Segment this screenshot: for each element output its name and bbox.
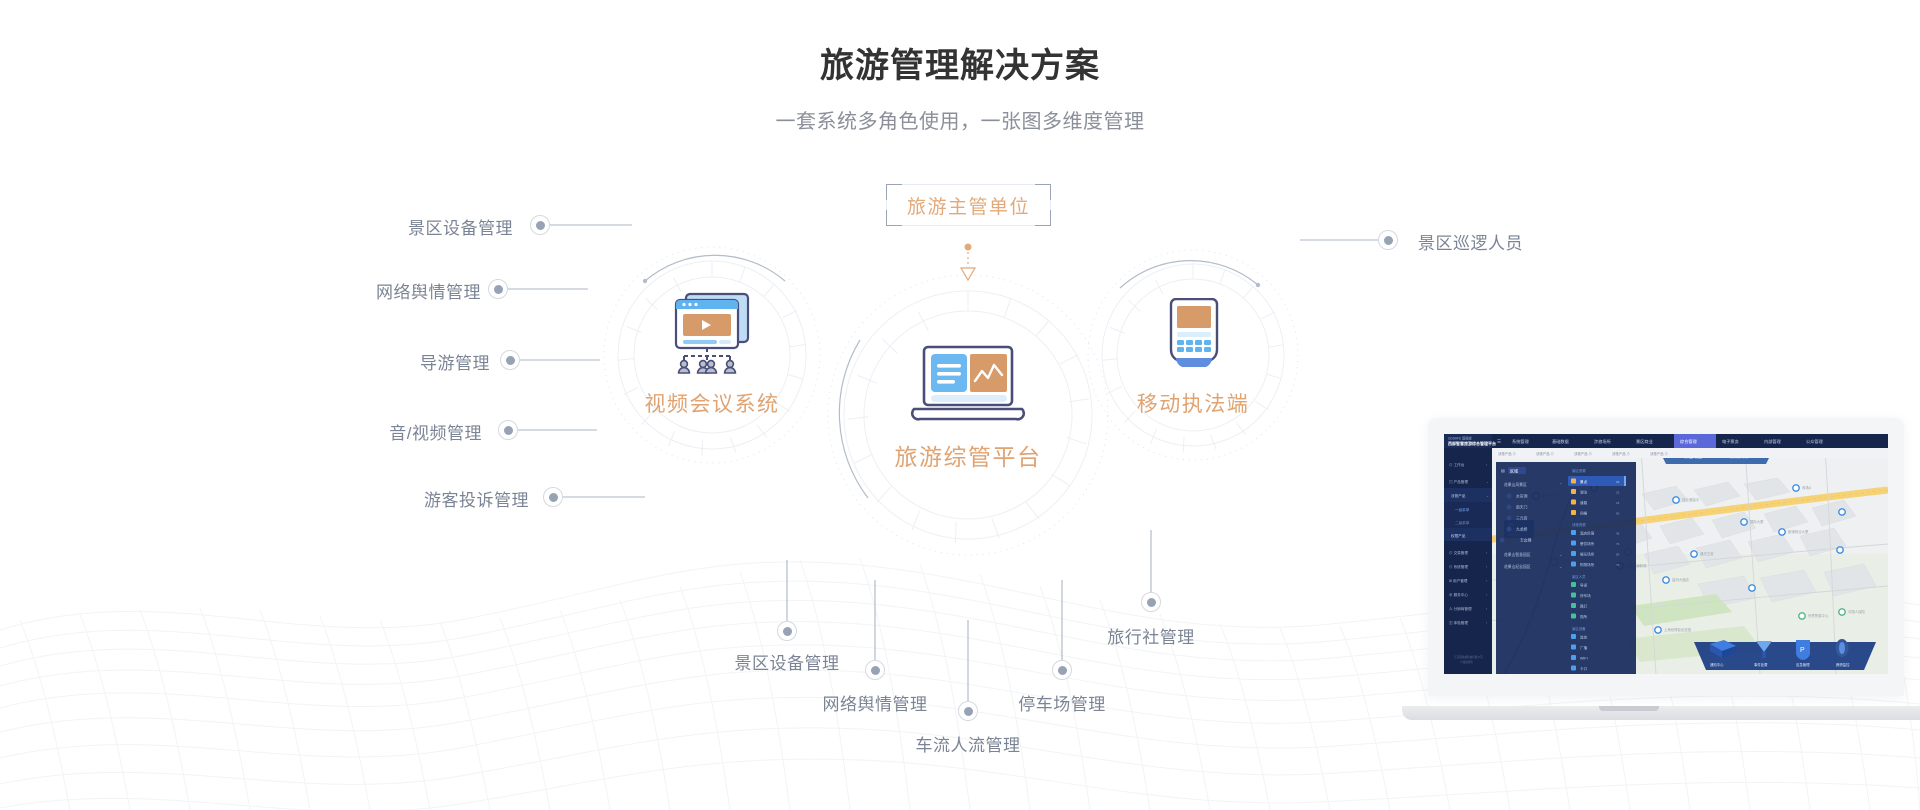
svg-text:卡口: 卡口 [1580,666,1588,671]
svg-text:上海世博会纪念馆: 上海世博会纪念馆 [1664,627,1692,632]
svg-text:涉旅产品 ⊙: 涉旅产品 ⊙ [1536,451,1554,456]
svg-text:区域: 区域 [1510,468,1518,474]
svg-text:综合管理: 综合管理 [1680,438,1698,445]
svg-text:45: 45 [1616,532,1620,536]
node-label-bottom-3: 停车场管理 [1018,690,1106,715]
svg-text:⊞ 用户管理: ⊞ 用户管理 [1449,578,1468,583]
svg-text:景区资源: 景区资源 [1572,468,1586,473]
svg-text:景区人员: 景区人员 [1572,574,1586,579]
node-label-left-2: 导游管理 [420,349,490,374]
svg-text:商场A: 商场A [1802,485,1812,490]
svg-text:涉旅产品 ⊙: 涉旅产品 ⊙ [1498,451,1516,456]
svg-text:监控: 监控 [1580,635,1588,640]
node-dot-bottom-2[interactable] [958,701,978,721]
ring-title-mobile-enforcement: 移动执法端 [1137,388,1250,418]
authority-label: 旅游主管单位 [907,192,1030,219]
leader-lines-bottom [787,530,1151,702]
dot-core [549,493,558,502]
node-dot-left-3[interactable] [498,420,518,440]
dot-core [506,356,515,365]
svg-text:⊙ 系统管理: ⊙ 系统管理 [1449,564,1468,569]
node-dot-left-1[interactable] [488,279,508,299]
dashboard-screenshot: 新浦汽车公园连云港高中 商场A国际大厦 新浦商业大厦通灵王宫 花果山海鲜城盐河大… [1444,434,1888,674]
node-dot-bottom-1[interactable] [865,660,885,680]
svg-text:⊕ 服务中心: ⊕ 服务中心 [1449,592,1468,597]
svg-text:花果山智慧园区: 花果山智慧园区 [1504,552,1531,557]
svg-text:事件处置: 事件处置 [1754,662,1768,667]
authority-box: 旅游主管单位 [886,184,1051,226]
ring-title-video-conference: 视频会议系统 [645,388,780,418]
svg-text:公众管理: 公众管理 [1806,438,1824,445]
svg-text:76: 76 [1616,563,1620,567]
node-dot-left-4[interactable] [543,487,563,507]
svg-text:⌄: ⌄ [1559,565,1562,569]
svg-text:连云港高中: 连云港高中 [1682,497,1700,502]
node-label-bottom-4: 旅行社管理 [1107,623,1195,648]
svg-text:⊙ 工作台: ⊙ 工作台 [1449,462,1465,467]
svg-text:道路: 道路 [1580,500,1588,505]
svg-text:一级菜单: 一级菜单 [1455,507,1470,512]
svg-text:© 版权所有: © 版权所有 [1460,660,1473,664]
node-label-right-0: 景区巡逻人员 [1418,229,1523,254]
svg-text:花果山纪念园区: 花果山纪念园区 [1504,564,1531,569]
laptop-notch [1599,706,1659,711]
svg-text:湖泊: 湖泊 [1580,490,1588,495]
svg-text:▤: ▤ [1501,468,1505,473]
dot-core [1384,236,1393,245]
node-label-left-4: 游客投诉管理 [424,486,529,511]
laptop-base [1402,706,1920,720]
svg-text:路灯: 路灯 [1580,604,1588,609]
svg-text:南天门: 南天门 [1516,504,1528,509]
svg-text:系统管理: 系统管理 [1512,438,1530,445]
leader-lines-left [508,225,645,497]
svg-text:内部管理: 内部管理 [1764,438,1782,445]
node-label-left-1: 网络舆情管理 [376,278,481,303]
laptop-dashboard-icon [908,345,1028,425]
svg-text:基础数据: 基础数据 [1552,438,1569,445]
box-edge-right [1050,200,1051,210]
dot-core [504,426,513,435]
laptop-screen-bezel: 新浦汽车公园连云港高中 商场A国际大厦 新浦商业大厦通灵王宫 花果山海鲜城盐河大… [1428,418,1904,696]
node-dot-left-2[interactable] [500,350,520,370]
svg-text:23: 23 [1616,480,1620,484]
svg-text:舆情监控: 舆情监控 [1836,662,1850,667]
video-window-icon [662,290,762,375]
svg-text:⊙ 交易管理: ⊙ 交易管理 [1449,550,1468,555]
svg-text:酒店民宿: 酒店民宿 [1580,531,1595,536]
node-label-bottom-2: 车流人流管理 [916,731,1021,756]
svg-text:购物场所: 购物场所 [1580,562,1595,567]
svg-text:23: 23 [1616,501,1620,505]
svg-text:▥ 体验管理: ▥ 体验管理 [1449,620,1468,625]
svg-text:世界贸易中心: 世界贸易中心 [1808,613,1829,618]
node-dot-right-0[interactable] [1378,230,1398,250]
svg-text:广播: 广播 [1580,645,1588,650]
dot-core [783,627,792,636]
svg-text:涉旅资源: 涉旅资源 [1572,522,1586,527]
svg-text:景区设备: 景区设备 [1572,626,1586,631]
svg-text:新浦商业大厦: 新浦商业大厦 [1788,529,1809,534]
svg-text:景点: 景点 [1580,479,1588,484]
handheld-device-icon [1163,298,1225,376]
node-dot-bottom-3[interactable] [1052,660,1072,680]
node-label-left-3: 音/视频管理 [389,419,482,444]
solution-poster: 旅游管理解决方案 一套系统多角色使用，一张图多维度管理 [0,0,1920,810]
svg-text:导游: 导游 [1580,583,1588,588]
svg-text:79: 79 [1616,542,1620,546]
node-label-left-0: 景区设备管理 [408,214,513,239]
node-label-bottom-1: 网络舆情管理 [823,690,928,715]
svg-text:餐饮场所: 餐饮场所 [1580,541,1595,546]
svg-text:停车场: 停车场 [1580,593,1591,598]
svg-text:江苏固德威科技有限公司: 江苏固德威科技有限公司 [1454,655,1483,659]
dot-core [494,285,503,294]
svg-text:涉旅产品: 涉旅产品 [1451,493,1466,498]
svg-text:▤ 产品管理: ▤ 产品管理 [1449,479,1468,484]
svg-text:⌃: ⌃ [1559,483,1562,487]
svg-text:盐河大酒店: 盐河大酒店 [1672,577,1690,582]
svg-text:涉旅场所: 涉旅场所 [1594,438,1611,445]
box-corner-tl [886,184,902,200]
svg-text:娱乐场所: 娱乐场所 [1580,552,1595,557]
svg-text:GDSAFE 固德威: GDSAFE 固德威 [1448,435,1472,440]
svg-text:涉旅产品 ⊙: 涉旅产品 ⊙ [1650,451,1668,456]
svg-text:应急管理: 应急管理 [1796,662,1810,667]
svg-text:涉旅产品 ⊙: 涉旅产品 ⊙ [1574,451,1592,456]
svg-text:⌄: ⌄ [1559,553,1562,557]
svg-text:涉旅产品 ⊙: 涉旅产品 ⊙ [1612,451,1630,456]
svg-text:⌄: ⌄ [1486,494,1489,498]
svg-text:景区商业: 景区商业 [1636,438,1653,445]
node-label-bottom-0: 景区设备管理 [735,649,840,674]
svg-text:九龙桥: 九龙桥 [1516,526,1528,531]
ring-title-integrated-platform: 旅游综管平台 [895,438,1042,472]
svg-text:水帘洞: 水帘洞 [1516,493,1528,498]
box-corner-bl [886,210,902,226]
dot-core [1058,666,1067,675]
svg-text:通知中心: 通知中心 [1710,662,1724,667]
svg-text:西部智慧旅游综合管理平台: 西部智慧旅游综合管理平台 [1448,440,1496,446]
node-dot-bottom-0[interactable] [777,621,797,641]
svg-text:花果山风景区: 花果山风景区 [1504,482,1527,487]
svg-text:中国人保险: 中国人保险 [1848,609,1866,614]
box-corner-br [1035,210,1051,226]
svg-text:电子票务: 电子票务 [1722,438,1740,445]
box-corner-tr [1035,184,1051,200]
dot-core [964,707,973,716]
svg-text:23: 23 [1616,491,1620,495]
dot-core [871,666,880,675]
svg-text:通灵王宫: 通灵王宫 [1700,551,1714,556]
svg-text:⌄: ⌄ [1486,480,1489,484]
svg-text:56: 56 [1616,512,1620,516]
dot-core [536,221,545,230]
svg-text:WIFI: WIFI [1580,657,1588,661]
svg-text:P: P [1800,647,1805,654]
svg-text:三元宫: 三元宫 [1516,515,1528,520]
svg-text:二级菜单: 二级菜单 [1455,520,1470,525]
laptop-mockup: 新浦汽车公园连云港高中 商场A国际大厦 新浦商业大厦通灵王宫 花果山海鲜城盐河大… [1428,418,1904,738]
dot-core [1147,598,1156,607]
box-edge-left [886,200,887,210]
node-dot-bottom-4[interactable] [1141,592,1161,612]
svg-text:厕所: 厕所 [1580,614,1588,619]
svg-text:权限产品: 权限产品 [1451,533,1466,538]
svg-text:玉女峰: 玉女峰 [1520,537,1532,542]
svg-text:网格: 网格 [1580,511,1588,516]
svg-text:国际大厦: 国际大厦 [1750,519,1764,524]
svg-text:人 分销商管理: 人 分销商管理 [1449,606,1472,611]
svg-text:55: 55 [1616,553,1620,557]
node-dot-left-0[interactable] [530,215,550,235]
box-edge-top [902,184,1035,185]
box-edge-bottom [902,225,1035,226]
